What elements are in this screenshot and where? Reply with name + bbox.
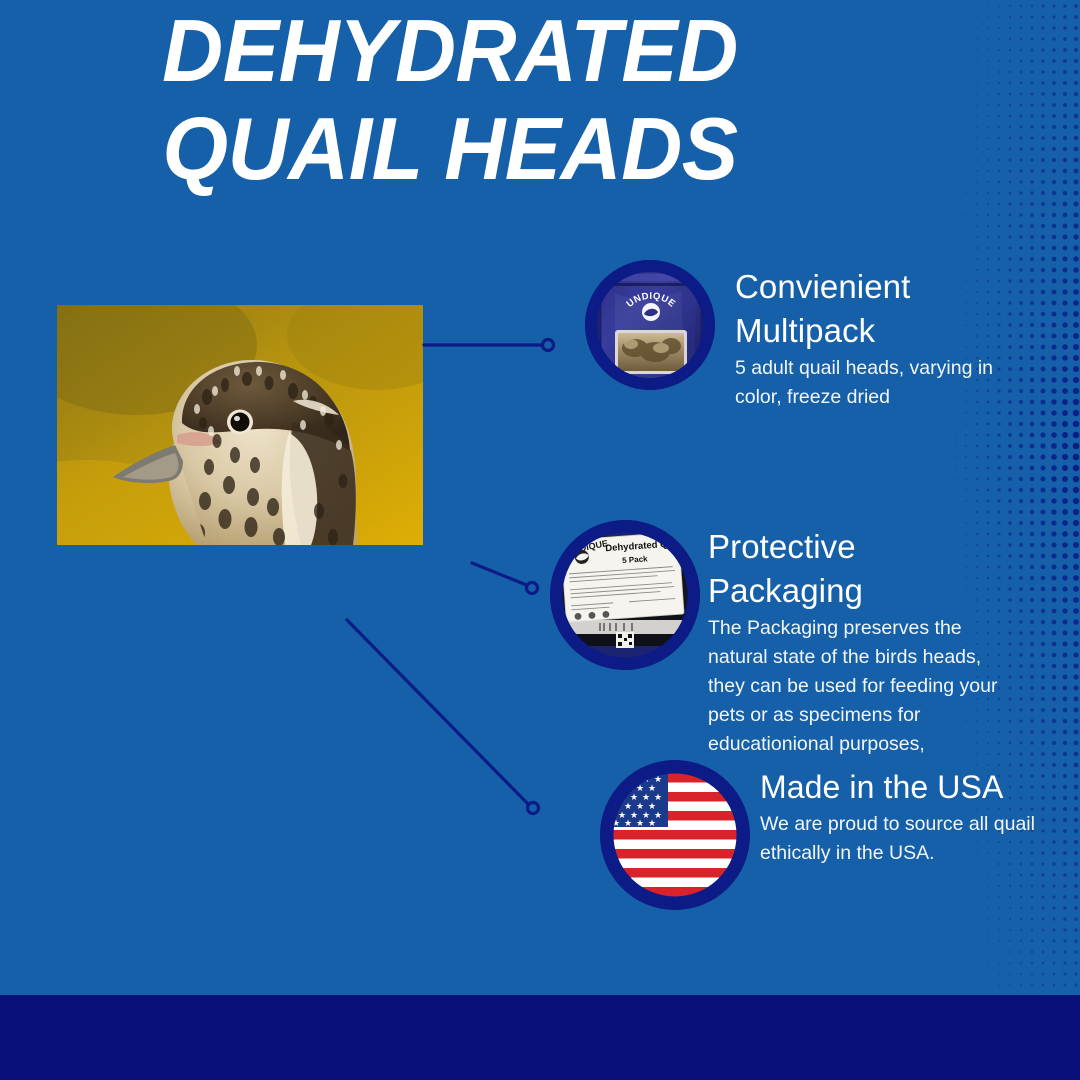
feature-multipack-title: Convienient Multipack [735,265,1035,352]
feature-packaging-text: Protective Packaging The Packaging prese… [708,525,1018,759]
quail-illustration [57,305,423,545]
product-bag-photo: UNDIQUE [585,260,715,390]
title-line-1: DEHYDRATED [18,8,882,94]
svg-text:★: ★ [624,818,632,828]
label-count-text: 5 Pack [622,554,648,565]
footer-bar [0,995,1080,1080]
feature-usa-title: Made in the USA [760,766,1070,808]
feature-usa-text: Made in the USA We are proud to source a… [760,766,1070,868]
feature-multipack-description: 5 adult quail heads, varying in color, f… [735,354,1035,412]
infographic-canvas: DEHYDRATED QUAIL HEADS [0,0,1080,1080]
page-title: DEHYDRATED QUAIL HEADS [0,8,900,192]
feature-multipack-text: Convienient Multipack 5 adult quail head… [735,265,1035,412]
feature-packaging-title: Protective Packaging [708,525,1018,612]
feature-title-line-2: Multipack [735,312,875,349]
connector-endpoint-3 [528,803,539,814]
feature-title-line-1: Convienient [735,268,910,305]
connector-line-2 [472,563,529,586]
product-label-photo: UNDIQUE Dehydrated Quail 5 Pack [550,520,700,670]
connector-line-3 [347,620,530,806]
quail-head-photo [57,305,423,545]
svg-text:★: ★ [606,774,614,784]
feature-usa-description: We are proud to source all quail ethical… [760,810,1070,868]
svg-text:★: ★ [648,818,656,828]
title-line-2: QUAIL HEADS [18,106,882,192]
connector-endpoint-1 [543,340,554,351]
usa-flag-icon: ★★★★★ ★★★★ ★★★★★ ★★★★ ★★★★★ ★★★★ [600,760,750,910]
feature-packaging-description: The Packaging preserves the natural stat… [708,614,1018,759]
feature-title-line-1: Protective [708,528,856,565]
connector-endpoint-2 [527,583,538,594]
feature-title-line-2: Packaging [708,572,863,609]
svg-text:★: ★ [636,818,644,828]
